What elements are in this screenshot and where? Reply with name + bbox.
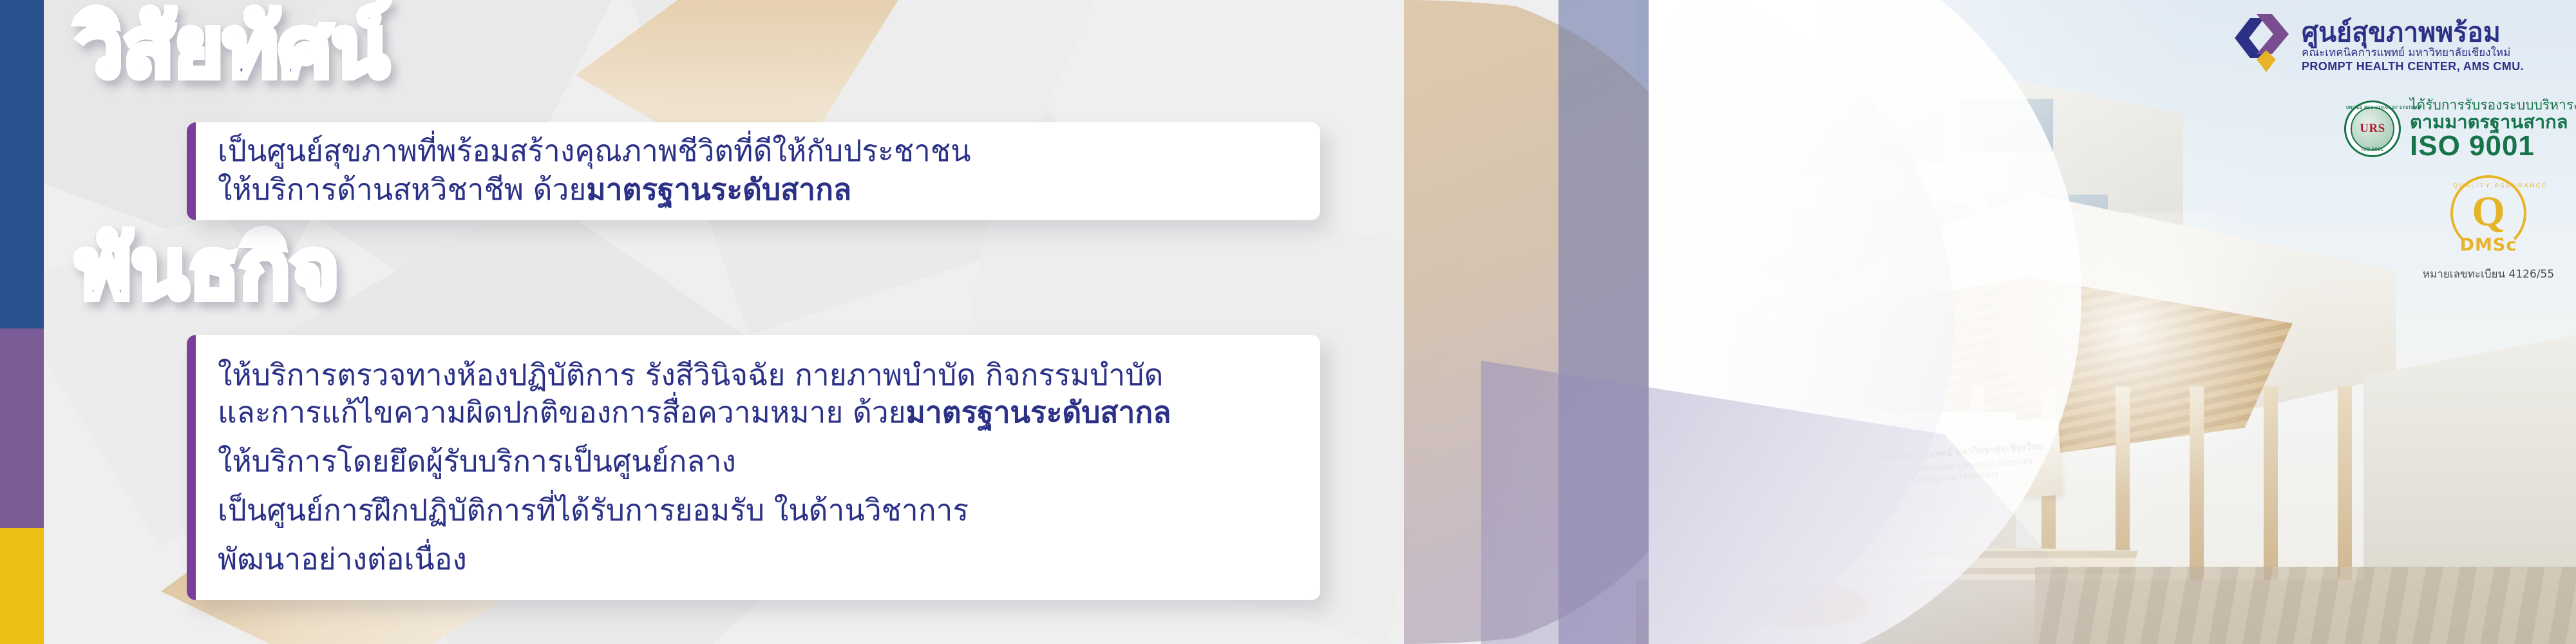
iso-line-1: ได้รับการรับรองระบบบริหารงาน (2410, 98, 2576, 112)
building-window (1739, 122, 1835, 178)
color-bar-gold-segment (0, 528, 44, 644)
building-adjacent-block (2363, 335, 2576, 592)
brand-lockup: ศูนย์สุขภาพพร้อม คณะเทคนิคการแพทย์ มหาวิ… (2235, 14, 2524, 79)
vision-card: เป็นศูนย์สุขภาพที่พร้อมสร้างคุณภาพชีวิตท… (187, 122, 1320, 220)
mission-line: เป็นศูนย์การฝึกปฏิบัติการที่ได้รับการยอม… (218, 492, 1171, 529)
mission-line-text: เป็นศูนย์การฝึกปฏิบัติการที่ได้รับการยอม… (218, 493, 969, 527)
vision-card-accent-bar (187, 122, 196, 220)
iso-line-3: ISO 9001 (2410, 132, 2576, 160)
circular-planter (1745, 583, 1868, 628)
urs-seal-icon: UNITED REGISTRAR OF SYSTEMS URS ISO 9001 (2344, 100, 2401, 157)
color-bar-purple-segment (0, 328, 44, 528)
urs-seal-ring-bottom: ISO 9001 (2346, 147, 2399, 152)
fascia-sign-th: ศูนย์สุขภาพพร้อม (1738, 262, 1843, 329)
registration-number: หมายเลขทะเบียน 4126/55 (2423, 265, 2554, 283)
urs-seal-center: URS (2360, 122, 2385, 136)
vision-line: เป็นศูนย์สุขภาพที่พร้อมสร้างคุณภาพชีวิตท… (218, 132, 971, 171)
mission-line: และการแก้ไขความผิดปกติของการสื่อความหมาย… (218, 394, 1171, 431)
mission-card-accent-bar (187, 335, 196, 600)
building-photo: ศูนย์สุขภาพพร้อม PROMPT HEALTH CENTER คณ… (1636, 0, 2576, 644)
mission-item: พัฒนาอย่างต่อเนื่อง (218, 541, 1171, 578)
brand-faculty-th: คณะเทคนิคการแพทย์ มหาวิทยาลัยเชียงใหม่ (2302, 46, 2524, 60)
mission-line-text: พัฒนาอย่างต่อเนื่อง (218, 542, 467, 576)
building-window (1958, 98, 2054, 153)
q-arc-text: QUALITY ASSURANCE (2453, 182, 2524, 189)
wall-plaque: คณะเทคนิคการแพทย์ มหาวิทยาลัยเชียงใหม่ F… (1846, 418, 2063, 510)
fascia-sign-en: PROMPT HEALTH CENTER (1841, 229, 1922, 273)
vision-line: ให้บริการด้านสหวิชาชีพ ด้วยมาตรฐานระดับส… (218, 171, 971, 209)
mission-line-text: และการแก้ไขความผิดปกติของการสื่อความหมาย… (218, 395, 906, 430)
brand-name-th: ศูนย์สุขภาพพร้อม (2302, 19, 2524, 46)
mission-item: เป็นศูนย์การฝึกปฏิบัติการที่ได้รับการยอม… (218, 492, 1171, 529)
prompt-health-chevron-logo-icon (2235, 14, 2291, 79)
iso-text-block: ได้รับการรับรองระบบบริหารงาน ตามมาตรฐานส… (2410, 98, 2576, 160)
left-color-bar (0, 0, 44, 644)
mission-card: ให้บริการตรวจทางห้องปฏิบัติการ รังสีวินิ… (187, 335, 1320, 600)
mission-card-body: ให้บริการตรวจทางห้องปฏิบัติการ รังสีวินิ… (196, 335, 1200, 600)
vision-mission-banner: ศูนย์สุขภาพพร้อม PROMPT HEALTH CENTER คณ… (0, 0, 2576, 644)
mission-item: ให้บริการตรวจทางห้องปฏิบัติการ รังสีวินิ… (218, 357, 1171, 431)
paving-stones (2035, 567, 2576, 644)
vision-line-text: เป็นศูนย์สุขภาพที่พร้อมสร้างคุณภาพชีวิตท… (218, 133, 971, 168)
vision-heading: วิสัยทัศน์ (76, 5, 389, 89)
dmsc-label: DMSc (2453, 235, 2524, 255)
vision-card-body: เป็นศูนย์สุขภาพที่พร้อมสร้างคุณภาพชีวิตท… (196, 122, 1001, 220)
brand-name-en: PROMPT HEALTH CENTER, AMS CMU. (2302, 60, 2524, 74)
brand-text-block: ศูนย์สุขภาพพร้อม คณะเทคนิคการแพทย์ มหาวิ… (2302, 19, 2524, 73)
mission-line-text: ให้บริการโดยยึดผู้รับบริการเป็นศูนย์กลาง (218, 444, 736, 478)
mission-heading: พันธกิจ (76, 227, 339, 310)
dmsc-quality-badge: QUALITY ASSURANCE Q DMSc หมายเลขทะเบียน … (2447, 175, 2530, 283)
vision-line-text: ให้บริการด้านสหวิชาชีพ ด้วย (218, 172, 586, 207)
building-window (1848, 108, 1945, 164)
mission-line-bold: มาตรฐานระดับสากล (906, 395, 1171, 430)
iso-line-2: ตามมาตรฐานสากล (2410, 112, 2576, 132)
color-bar-blue-segment (0, 0, 44, 328)
vision-line-bold: มาตรฐานระดับสากล (586, 172, 851, 207)
q-seal-icon: QUALITY ASSURANCE Q DMSc (2450, 175, 2526, 251)
mission-item: ให้บริการโดยยึดผู้รับบริการเป็นศูนย์กลาง (218, 443, 1171, 480)
mission-line: ให้บริการโดยยึดผู้รับบริการเป็นศูนย์กลาง (218, 443, 1171, 480)
mission-line: ให้บริการตรวจทางห้องปฏิบัติการ รังสีวินิ… (218, 357, 1171, 394)
urs-seal-ring-top: UNITED REGISTRAR OF SYSTEMS (2346, 106, 2399, 110)
mission-line: พัฒนาอย่างต่อเนื่อง (218, 541, 1171, 578)
q-glyph: Q (2472, 191, 2505, 233)
iso-9001-badge: UNITED REGISTRAR OF SYSTEMS URS ISO 9001… (2344, 98, 2576, 160)
mission-line-text: ให้บริการตรวจทางห้องปฏิบัติการ รังสีวินิ… (218, 357, 1163, 392)
